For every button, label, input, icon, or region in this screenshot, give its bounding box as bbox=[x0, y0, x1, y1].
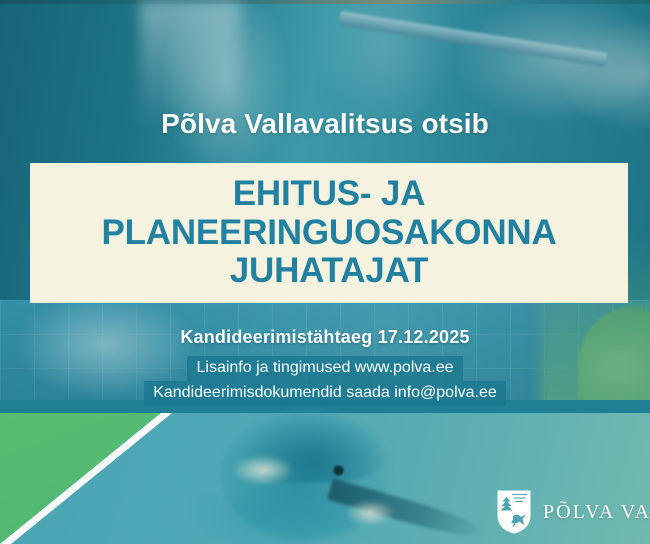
contact-info-block: Lisainfo ja tingimused www.polva.ee Kand… bbox=[0, 356, 650, 406]
job-title-line-2: PLANEERINGUOSAKONNA bbox=[101, 214, 556, 253]
kingfisher-throat-patch bbox=[345, 500, 395, 526]
info-line-website: Lisainfo ja tingimused www.polva.ee bbox=[187, 356, 462, 381]
logo-wordmark: PÕLVA VALD bbox=[543, 501, 650, 524]
poster-kicker-heading: Põlva Vallavalitsus otsib bbox=[0, 108, 650, 140]
job-title-box: EHITUS- JA PLANEERINGUOSAKONNA JUHATAJAT bbox=[30, 163, 628, 303]
page-title: EHITUS- JA PLANEERINGUOSAKONNA JUHATAJAT bbox=[95, 175, 562, 291]
photo-top-rim bbox=[0, 0, 650, 4]
info-line-email: Kandideerimisdokumendid saada info@polva… bbox=[144, 381, 506, 406]
application-deadline: Kandideerimistähtaeg 17.12.2025 bbox=[0, 327, 650, 348]
polva-vald-coat-of-arms-icon bbox=[496, 489, 532, 535]
job-title-line-1: EHITUS- JA bbox=[101, 175, 556, 214]
job-title-line-3: JUHATAJAT bbox=[101, 252, 556, 291]
kingfisher-eye bbox=[332, 464, 345, 477]
kingfisher-cheek-patch bbox=[232, 455, 294, 485]
job-advert-poster: Põlva Vallavalitsus otsib EHITUS- JA PLA… bbox=[0, 0, 650, 544]
polva-vald-logo: PÕLVA VALD bbox=[496, 489, 650, 535]
